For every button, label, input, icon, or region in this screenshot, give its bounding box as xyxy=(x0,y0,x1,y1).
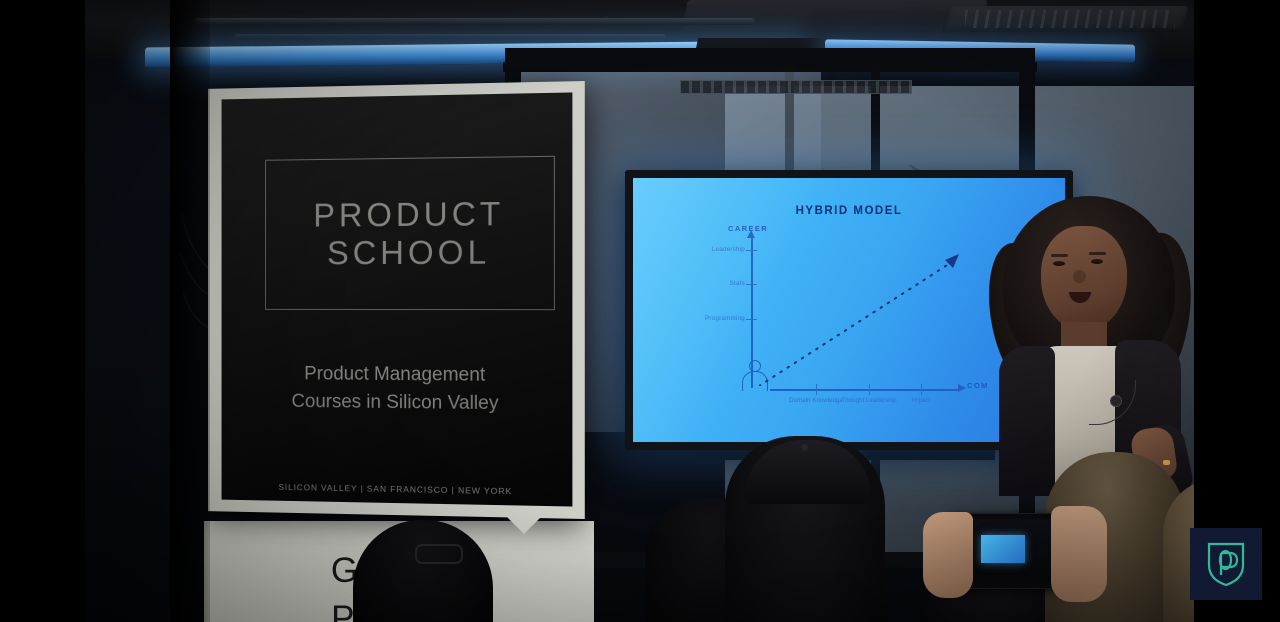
x-tick-label-impact: Impact xyxy=(891,397,951,405)
duct-slats xyxy=(965,10,1175,28)
screenshot-stage: HYBRID MODEL CAREER COM Leadership Stats… xyxy=(0,0,1280,622)
hand-right xyxy=(1051,506,1107,602)
shield-p-icon xyxy=(1206,541,1246,587)
phone-camera-preview xyxy=(981,535,1025,563)
product-school-banner: PRODUCT SCHOOL Product Management Course… xyxy=(204,85,589,525)
speaker-eye-right xyxy=(1091,259,1103,264)
audience-glasses xyxy=(415,544,463,564)
x-tick-label-thought-leadership: Thought Leadership xyxy=(839,397,899,405)
x-axis-arrowhead xyxy=(958,384,966,392)
pillarbox-left xyxy=(0,0,85,622)
y-tick-stats xyxy=(746,284,757,285)
vent-grille xyxy=(680,80,912,94)
y-tick-label-leadership: Leadership xyxy=(675,246,745,253)
hand-left xyxy=(923,512,973,598)
frame-mullion-horizontal xyxy=(503,62,1037,72)
banner-panel: PRODUCT SCHOOL Product Management Course… xyxy=(222,92,573,506)
speaker-brow-right xyxy=(1089,252,1106,255)
x-tick-label-domain-knowledge: Domain Knowledge xyxy=(786,397,846,405)
ceiling-duct-a xyxy=(682,0,987,30)
left-edge-shadow xyxy=(170,0,210,622)
ceiling-pipe-a xyxy=(195,18,755,25)
cap-button xyxy=(801,444,808,451)
ceiling-pipe-b xyxy=(235,34,665,39)
y-tick-leadership xyxy=(746,250,757,251)
speaker-brow-left xyxy=(1051,254,1068,257)
product-school-watermark xyxy=(1190,528,1262,600)
conference-room: HYBRID MODEL CAREER COM Leadership Stats… xyxy=(85,0,1194,622)
x-axis xyxy=(770,389,960,391)
banner-shading xyxy=(222,92,573,506)
speaker-eye-left xyxy=(1053,261,1065,266)
lapel-microphone xyxy=(1111,396,1121,406)
speaker-ring xyxy=(1163,460,1170,465)
speaker xyxy=(985,196,1194,496)
banner-notch xyxy=(500,510,548,534)
y-tick-label-stats: Stats xyxy=(675,280,745,287)
banner-board: PRODUCT SCHOOL Product Management Course… xyxy=(208,81,585,519)
speaker-cardigan-left xyxy=(999,346,1055,496)
y-tick-label-programming: Programming xyxy=(675,315,745,322)
growth-trajectory-arrow xyxy=(759,254,959,386)
y-axis-label: CAREER xyxy=(728,224,768,233)
y-tick-programming xyxy=(746,319,757,320)
speaker-nose xyxy=(1073,270,1086,283)
